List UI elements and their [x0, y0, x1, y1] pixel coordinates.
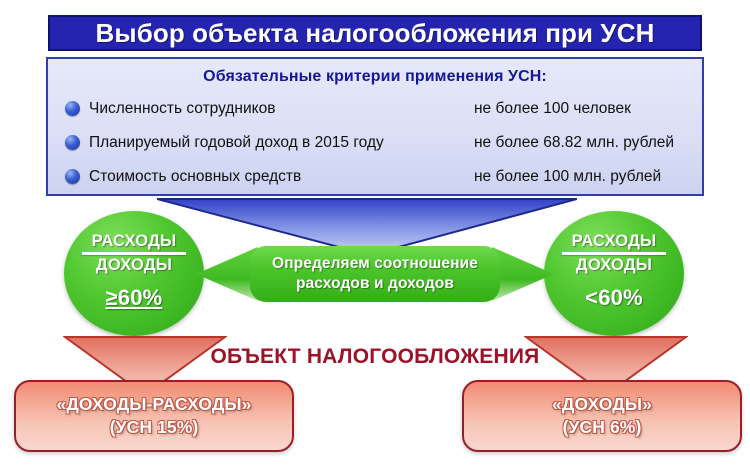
result-line2: (УСН 15%) — [110, 416, 199, 439]
blue-sphere-bullet-icon — [65, 169, 80, 184]
criteria-row: Планируемый годовой доход в 2015 году не… — [62, 127, 688, 158]
center-double-arrow: Определяем соотношение расходов и доходо… — [196, 243, 554, 305]
criteria-value: не более 100 человек — [474, 100, 631, 118]
blue-sphere-bullet-icon — [65, 135, 80, 150]
blue-sphere-bullet-icon — [65, 101, 80, 116]
ratio-circle-expenses-ge-60: РАСХОДЫ ДОХОДЫ ≥60% — [64, 211, 204, 336]
criteria-panel: Обязательные критерии применения УСН: Чи… — [46, 57, 704, 196]
page-title: Выбор объекта налогообложения при УСН — [96, 18, 655, 49]
fraction-bar — [562, 252, 666, 255]
fraction-denominator: ДОХОДЫ — [576, 256, 652, 275]
double-headed-arrow-icon — [196, 243, 554, 305]
ratio-circle-expenses-lt-60: РАСХОДЫ ДОХОДЫ <60% — [544, 211, 684, 336]
ratio-percent: <60% — [585, 285, 643, 311]
fraction-bar — [82, 252, 186, 255]
ratio-fraction: РАСХОДЫ ДОХОДЫ — [562, 232, 666, 275]
criteria-heading: Обязательные критерии применения УСН: — [62, 68, 688, 86]
fraction-numerator: РАСХОДЫ — [92, 232, 177, 251]
ratio-percent: ≥60% — [106, 285, 163, 311]
result-box-income-minus-expenses: «ДОХОДЫ-РАСХОДЫ» (УСН 15%) — [14, 380, 294, 452]
result-line2: (УСН 6%) — [563, 416, 642, 439]
fraction-numerator: РАСХОДЫ — [572, 232, 657, 251]
result-box-income: «ДОХОДЫ» (УСН 6%) — [462, 380, 742, 452]
criteria-label: Численность сотрудников — [89, 100, 474, 118]
ratio-fraction: РАСХОДЫ ДОХОДЫ — [82, 232, 186, 275]
criteria-label: Стоимость основных средств — [89, 168, 474, 186]
fraction-denominator: ДОХОДЫ — [96, 256, 172, 275]
usn-tax-object-infographic: Выбор объекта налогообложения при УСН Об… — [0, 0, 750, 468]
object-of-taxation-label: ОБЪЕКТ НАЛОГООБЛОЖЕНИЯ — [0, 345, 750, 369]
criteria-value: не более 68.82 млн. рублей — [474, 134, 674, 152]
criteria-row: Стоимость основных средств не более 100 … — [62, 161, 688, 192]
criteria-row: Численность сотрудников не более 100 чел… — [62, 93, 688, 124]
infographic-title-bar: Выбор объекта налогообложения при УСН — [48, 15, 702, 51]
result-line1: «ДОХОДЫ» — [552, 393, 652, 416]
criteria-value: не более 100 млн. рублей — [474, 168, 661, 186]
criteria-label: Планируемый годовой доход в 2015 году — [89, 134, 474, 152]
result-line1: «ДОХОДЫ-РАСХОДЫ» — [56, 393, 251, 416]
